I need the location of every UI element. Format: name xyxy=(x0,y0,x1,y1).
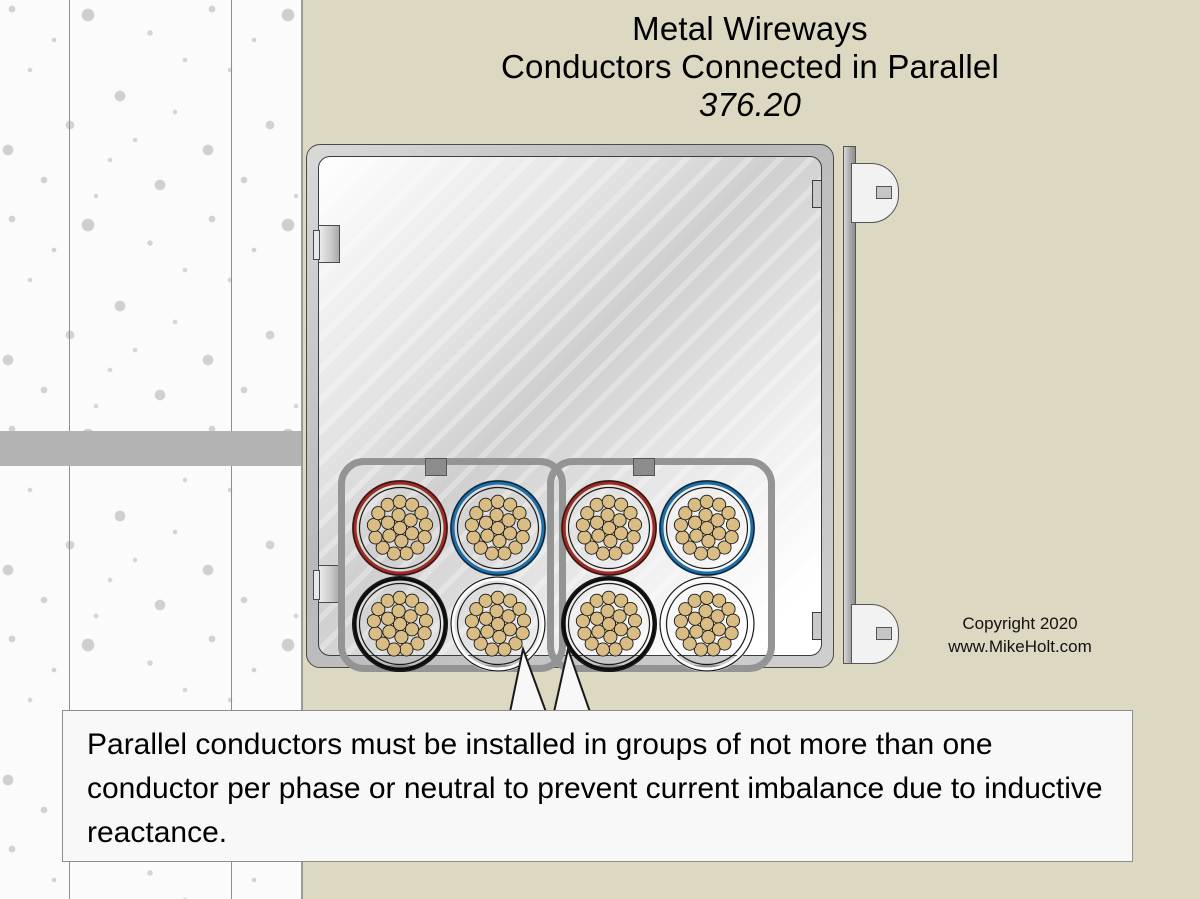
copyright-website: www.MikeHolt.com xyxy=(880,635,1160,658)
conductor-blue-1 xyxy=(450,480,546,576)
conductor-blue-2 xyxy=(659,480,755,576)
conductor-red-2 xyxy=(561,480,657,576)
callout-caption-box: Parallel conductors must be installed in… xyxy=(62,710,1133,862)
hinge-knuckle-top xyxy=(851,163,899,223)
door-tab-bottom xyxy=(812,612,822,640)
horizontal-support-beam xyxy=(0,431,302,466)
latch-lip-icon xyxy=(313,570,320,600)
cable-tie-icon xyxy=(425,458,447,476)
enclosure-latch-top[interactable] xyxy=(318,225,340,263)
illustration-canvas: Metal Wireways Conductors Connected in P… xyxy=(0,0,1200,899)
title-line-1: Metal Wireways xyxy=(300,10,1200,48)
enclosure-hinge-bar xyxy=(843,146,856,664)
conductor-black-2 xyxy=(561,576,657,672)
conductor-black-1 xyxy=(352,576,448,672)
conductor-red-1 xyxy=(352,480,448,576)
enclosure-latch-bottom[interactable] xyxy=(318,565,340,603)
conductor-white-2 xyxy=(659,576,755,672)
title-line-2: Conductors Connected in Parallel xyxy=(300,48,1200,86)
copyright-year: Copyright 2020 xyxy=(880,612,1160,635)
door-tab-top xyxy=(812,180,822,208)
caption-text: Parallel conductors must be installed in… xyxy=(87,723,1112,855)
title-block: Metal Wireways Conductors Connected in P… xyxy=(300,10,1200,124)
copyright-block: Copyright 2020 www.MikeHolt.com xyxy=(880,612,1160,658)
conductor-white-1 xyxy=(450,576,546,672)
cable-tie-icon xyxy=(633,458,655,476)
hinge-notch-icon xyxy=(876,186,892,199)
latch-lip-icon xyxy=(313,230,320,260)
hinge-notch-icon xyxy=(876,627,892,640)
title-code: 376.20 xyxy=(300,86,1200,124)
